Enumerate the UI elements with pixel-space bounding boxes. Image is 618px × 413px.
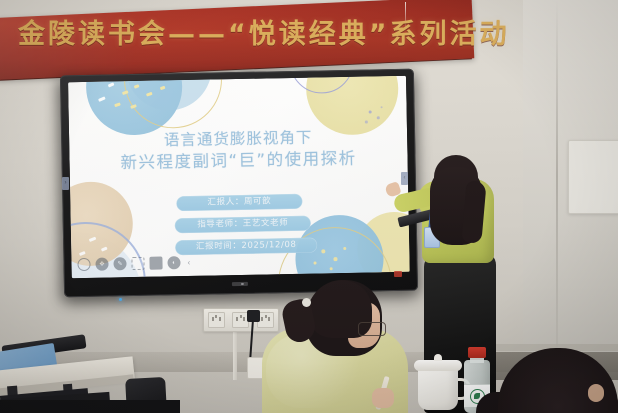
deco-dot bbox=[321, 249, 325, 253]
ir-sensor-icon bbox=[232, 282, 248, 286]
display-side-button-left[interactable]: › bbox=[62, 177, 69, 190]
glasses-icon bbox=[358, 322, 386, 336]
pen-icon[interactable]: ✎ bbox=[113, 257, 126, 270]
eraser-icon[interactable] bbox=[149, 256, 162, 269]
deco-dot bbox=[381, 106, 383, 108]
wall-conduit bbox=[233, 330, 237, 380]
foreground-person-ear bbox=[588, 384, 604, 402]
seated-student bbox=[262, 276, 432, 413]
crop-select-icon[interactable] bbox=[131, 257, 144, 270]
banner-text: 金陵读书会——“悦读经典”系列活动 bbox=[18, 12, 458, 51]
display-screen[interactable]: 语言通货膨胀视角下 新兴程度副词“巨”的使用探析 汇报人：周可歆 指导老师：王艺… bbox=[68, 76, 410, 278]
wall-seam bbox=[556, 0, 558, 352]
slide-annotation-toolbar[interactable]: ✥ ✎ ◐ ‹ bbox=[77, 256, 190, 271]
cursor-select-icon[interactable]: ✥ bbox=[95, 258, 108, 271]
deco-dot bbox=[314, 262, 317, 265]
wall-notice-board bbox=[568, 140, 618, 214]
slide-pill-date: 汇报时间：2025/12/08 bbox=[175, 238, 317, 256]
classroom-scene: 金陵读书会——“悦读经典”系列活动 bbox=[0, 0, 618, 413]
deco-dot bbox=[333, 257, 337, 261]
slide-title: 语言通货膨胀视角下 新兴程度副词“巨”的使用探析 bbox=[69, 126, 408, 174]
power-led-icon bbox=[119, 298, 122, 301]
cup-knob bbox=[434, 354, 442, 361]
deco-dot bbox=[330, 267, 333, 270]
circle-icon[interactable] bbox=[77, 258, 90, 271]
deco-dot bbox=[365, 121, 368, 124]
deco-dot bbox=[343, 247, 346, 250]
socket-icon bbox=[208, 312, 225, 328]
slide-pill-presenter: 汇报人：周可歆 bbox=[176, 194, 302, 211]
interactive-display[interactable]: 语言通货膨胀视角下 新兴程度副词“巨”的使用探析 汇报人：周可歆 指导老师：王艺… bbox=[60, 69, 418, 298]
deco-dot bbox=[377, 116, 380, 119]
bottle-cap bbox=[468, 347, 486, 358]
hair-tie-icon bbox=[302, 298, 311, 307]
palette-icon[interactable]: ◐ bbox=[167, 256, 180, 269]
collapse-arrow-icon[interactable]: ‹ bbox=[187, 258, 190, 267]
student-hand bbox=[372, 388, 394, 408]
slide-pill-advisor: 指导老师：王艺文老师 bbox=[175, 216, 311, 234]
presentation-slide: 语言通货膨胀视角下 新兴程度副词“巨”的使用探析 汇报人：周可歆 指导老师：王艺… bbox=[68, 76, 410, 278]
deco-dot bbox=[369, 110, 372, 113]
foreground-dark-edge bbox=[0, 400, 180, 413]
